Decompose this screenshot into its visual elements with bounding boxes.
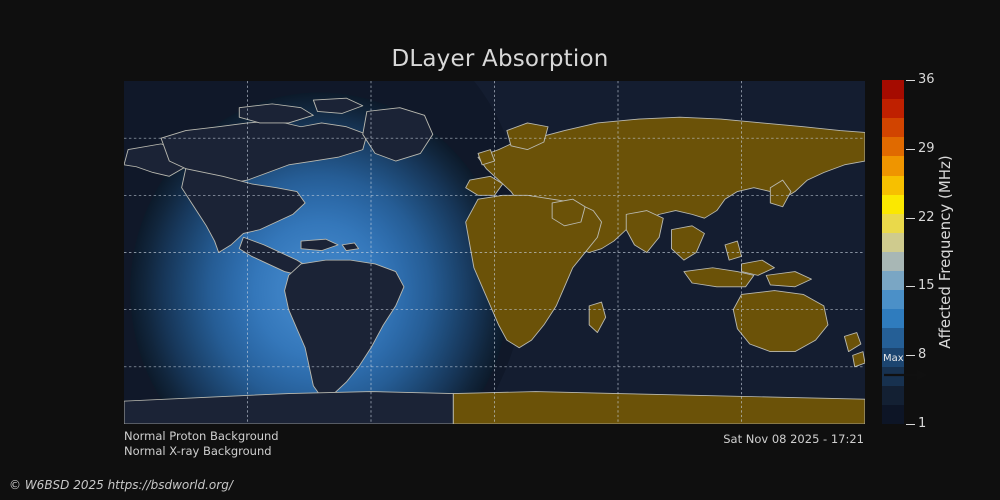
- colorbar-band: [882, 233, 904, 252]
- colorbar-band: [882, 195, 904, 214]
- colorbar[interactable]: 1815222936 Max: [882, 80, 904, 424]
- colorbar-tick-mark: [906, 424, 915, 425]
- colorbar-band: [882, 328, 904, 347]
- colorbar-tick-label: 1: [918, 417, 926, 430]
- colorbar-band: [882, 137, 904, 156]
- colorbar-gradient: [882, 80, 904, 424]
- colorbar-band: [882, 348, 904, 367]
- colorbar-band: [882, 252, 904, 271]
- colorbar-band: [882, 156, 904, 175]
- proton-background-note: Normal Proton Background: [124, 429, 279, 444]
- world-map-plot[interactable]: [124, 81, 865, 424]
- colorbar-axis-label: Affected Frequency (MHz): [934, 80, 956, 424]
- colorbar-band: [882, 290, 904, 309]
- colorbar-band: [882, 271, 904, 290]
- colorbar-tick-mark: [906, 355, 915, 356]
- colorbar-tick-label: 29: [918, 142, 935, 155]
- colorbar-band: [882, 405, 904, 424]
- xray-background-note: Normal X-ray Background: [124, 444, 279, 459]
- background-status-notes: Normal Proton Background Normal X-ray Ba…: [124, 429, 279, 459]
- colorbar-tick-mark: [906, 149, 915, 150]
- map-canvas: [124, 81, 865, 424]
- colorbar-tick-label: 22: [918, 211, 935, 224]
- colorbar-band: [882, 367, 904, 386]
- colorbar-band: [882, 176, 904, 195]
- copyright-notice: © W6BSD 2025 https://bsdworld.org/: [9, 478, 233, 492]
- colorbar-band: [882, 309, 904, 328]
- colorbar-tick-mark: [906, 80, 915, 81]
- colorbar-band: [882, 386, 904, 405]
- colorbar-tick-label: 8: [918, 348, 926, 361]
- colorbar-tick-mark: [906, 218, 915, 219]
- colorbar-band: [882, 99, 904, 118]
- dlayer-absorption-screen: DLayer Absorption: [0, 0, 1000, 500]
- colorbar-tick-label: 36: [918, 73, 935, 86]
- timestamp: Sat Nov 08 2025 - 17:21: [564, 432, 864, 447]
- colorbar-band: [882, 118, 904, 137]
- colorbar-tick-mark: [906, 286, 915, 287]
- page-title: DLayer Absorption: [0, 46, 1000, 72]
- colorbar-tick-label: 15: [918, 279, 935, 292]
- colorbar-band: [882, 80, 904, 99]
- colorbar-band: [882, 214, 904, 233]
